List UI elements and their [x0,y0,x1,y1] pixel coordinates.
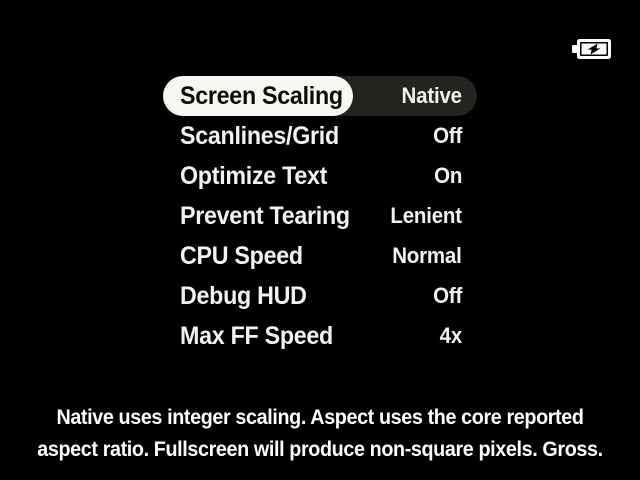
menu-row-value[interactable]: Native [402,76,462,116]
menu-row-value[interactable]: Lenient [391,196,462,236]
status-bar [0,0,640,72]
menu-row-value[interactable]: 4x [440,316,462,356]
help-text-line-1: Native uses integer scaling. Aspect uses… [19,402,621,434]
menu-row-value[interactable]: Normal [393,236,462,276]
menu-row-label: CPU Speed [180,236,303,276]
menu-row-value[interactable]: Off [433,276,462,316]
menu-row-label: Debug HUD [180,276,307,316]
menu-row-value[interactable]: On [434,156,462,196]
menu-row-label: Optimize Text [180,156,327,196]
menu-row-screen-scaling[interactable]: Screen Scaling Native [0,76,640,116]
menu-row-debug-hud[interactable]: Debug HUD Off [0,276,640,316]
menu-row-prevent-tearing[interactable]: Prevent Tearing Lenient [0,196,640,236]
menu-row-value[interactable]: Off [433,116,462,156]
menu-row-label: Prevent Tearing [180,196,350,236]
menu-row-optimize-text[interactable]: Optimize Text On [0,156,640,196]
menu-row-label: Screen Scaling [180,76,343,116]
menu-row-label: Max FF Speed [180,316,333,356]
help-text-line-2: aspect ratio. Fullscreen will produce no… [19,434,621,466]
menu-row-scanlines-grid[interactable]: Scanlines/Grid Off [0,116,640,156]
menu-row-cpu-speed[interactable]: CPU Speed Normal [0,236,640,276]
battery-charging-icon [572,38,612,60]
settings-screen: Screen Scaling Native Scanlines/Grid Off… [0,0,640,480]
menu-row-max-ff-speed[interactable]: Max FF Speed 4x [0,316,640,356]
settings-menu: Screen Scaling Native Scanlines/Grid Off… [0,76,640,356]
help-text: Native uses integer scaling. Aspect uses… [0,402,640,466]
menu-row-label: Scanlines/Grid [180,116,339,156]
